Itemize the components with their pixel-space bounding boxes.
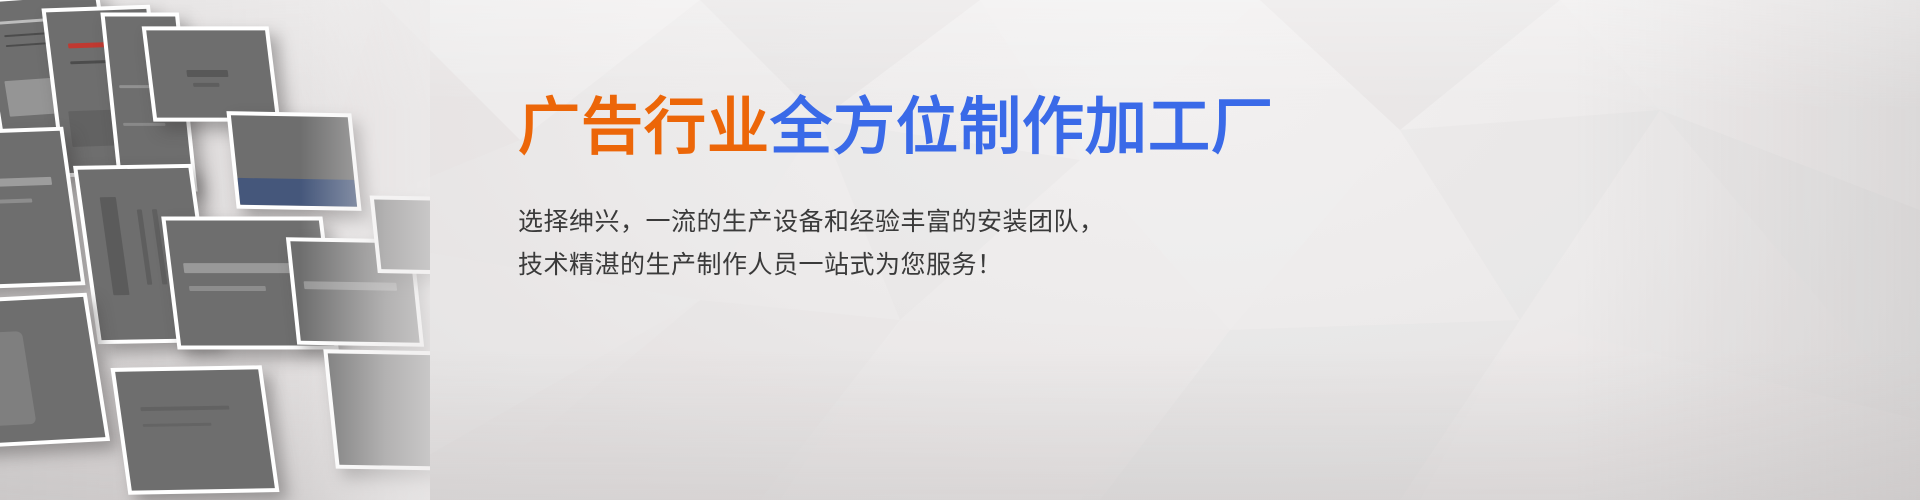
collage-photo-gold-shop-signage: [370, 195, 430, 274]
collage-photo-colored-street-flags: [226, 111, 361, 211]
collage-photo-misc-print-sample: [111, 365, 280, 494]
collage-photo-edge-sample: [323, 349, 430, 470]
subtitle-line-1: 选择绅兴，一流的生产设备和经验丰富的安装团队，: [518, 200, 1518, 243]
collage-photo-teahouse-shop-sign: [142, 26, 281, 121]
photo-collage: [0, 0, 430, 500]
banner-headline: 广告行业全方位制作加工厂: [518, 96, 1518, 158]
headline-segment-orange: 广告行业: [518, 90, 770, 163]
promo-banner: 广告行业全方位制作加工厂 选择绅兴，一流的生产设备和经验丰富的安装团队， 技术精…: [0, 0, 1920, 500]
subtitle-line-2: 技术精湛的生产制作人员一站式为您服务！: [518, 243, 1518, 286]
headline-segment-blue: 全方位制作加工厂: [770, 90, 1274, 163]
banner-subtitle: 选择绅兴，一流的生产设备和经验丰富的安装团队， 技术精湛的生产制作人员一站式为您…: [518, 200, 1518, 286]
banner-text-block: 广告行业全方位制作加工厂 选择绅兴，一流的生产设备和经验丰富的安装团队， 技术精…: [518, 96, 1518, 286]
